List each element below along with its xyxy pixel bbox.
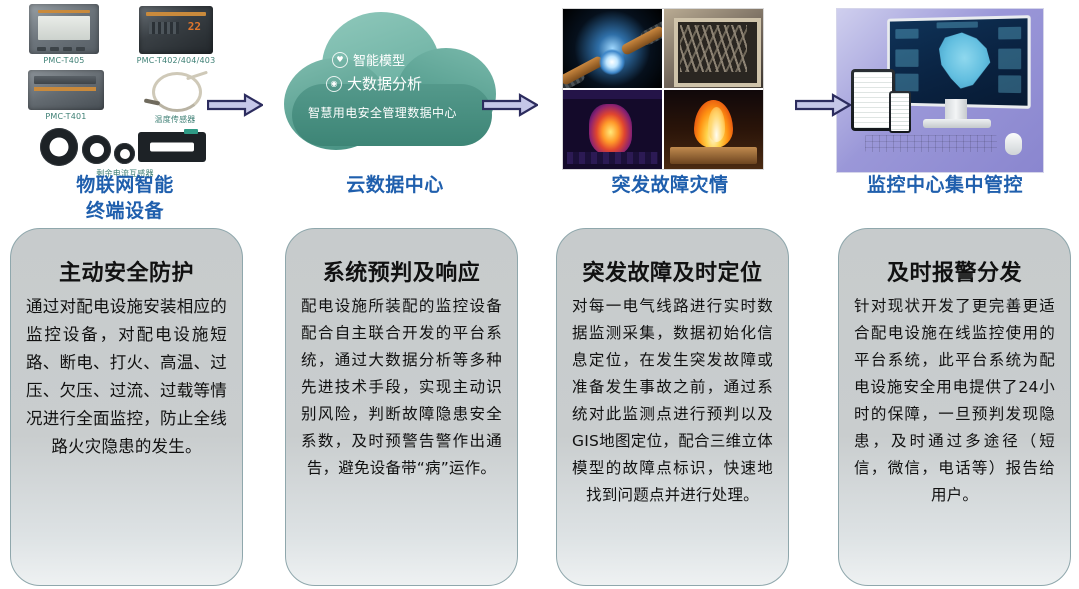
electrical-fire-photo <box>664 90 763 169</box>
description-card-fault-location: 突发故障及时定位 对每一电气线路进行实时数据监测采集，数据初始化信息定位，在发生… <box>556 228 789 586</box>
device-pmc-t401: PMC-T401 <box>22 70 110 121</box>
burnt-distribution-box-photo <box>664 9 763 88</box>
device-label: PMC-T402/404/403 <box>112 56 240 65</box>
card-body: 配电设施所装配的监控设备配合自主联合开发的平台系统，通过大数据分析等多种先进技术… <box>301 293 502 482</box>
cloud-row-label: 大数据分析 <box>347 73 422 94</box>
heart-shield-icon: ♥ <box>332 52 348 68</box>
device-label: PMC-T401 <box>22 112 110 121</box>
section-title-monitoring: 监控中心集中管控 <box>820 172 1070 198</box>
card-body: 通过对配电设施安装相应的监控设备，对配电设施短路、断电、打火、高温、过压、欠压、… <box>26 293 227 461</box>
thermal-imaging-photo <box>563 90 662 169</box>
china-map-icon <box>934 29 995 93</box>
card-heading: 及时报警分发 <box>854 255 1055 287</box>
card-heading: 突发故障及时定位 <box>572 255 773 287</box>
card-body: 针对现状开发了更完善更适合配电设施在线监控使用的平台系统，此平台系统为配电设施安… <box>854 293 1055 509</box>
device-pmc-t402: 22 PMC-T402/404/403 <box>112 6 240 65</box>
section-title-iot: 物联网智能 终端设备 <box>0 172 250 224</box>
flow-arrow-3 <box>795 93 851 117</box>
card-heading: 主动安全防护 <box>26 255 227 287</box>
monitor-stand-foot <box>923 119 991 128</box>
description-card-system-prediction: 系统预判及响应 配电设施所装配的监控设备配合自主联合开发的平台系统，通过大数据分… <box>285 228 518 586</box>
power-meter-icon <box>29 4 99 54</box>
temperature-sensor-icon <box>140 70 210 112</box>
section-title-line: 终端设备 <box>0 198 250 224</box>
analytics-icon: ◉ <box>326 76 342 92</box>
current-transformer-icon <box>40 126 210 166</box>
monitor-stand-neck <box>945 99 967 121</box>
smartphone-icon <box>889 91 911 133</box>
cloud-row-label: 智能模型 <box>353 50 405 69</box>
cloud-caption: 智慧用电安全管理数据中心 <box>308 104 457 121</box>
card-heading: 系统预判及响应 <box>301 255 502 287</box>
flow-arrow-2 <box>482 93 538 117</box>
cloud-graphic: ♥ 智能模型 ◉ 大数据分析 智慧用电安全管理数据中心 <box>270 4 520 176</box>
card-body: 对每一电气线路进行实时数据监测采集，数据初始化信息定位，在发生突发故障或准备发生… <box>572 293 773 509</box>
fault-photo-grid <box>545 4 795 176</box>
arcing-cable-photo <box>563 9 662 88</box>
monitoring-devices-photo <box>820 4 1070 176</box>
cloud-shape-icon: ♥ 智能模型 ◉ 大数据分析 智慧用电安全管理数据中心 <box>284 10 502 156</box>
description-card-alarm-dispatch: 及时报警分发 针对现状开发了更完善更适合配电设施在线监控使用的平台系统，此平台系… <box>838 228 1071 586</box>
mouse-icon <box>1005 133 1022 155</box>
cloud-row-intelligent-model: ♥ 智能模型 <box>332 50 405 69</box>
rail-meter-icon <box>28 70 104 110</box>
infographic-canvas: PMC-T405 22 PMC-T402/404/403 PMC-T401 <box>0 0 1079 589</box>
cloud-row-big-data: ◉ 大数据分析 <box>326 73 422 94</box>
device-pmc-t405: PMC-T405 <box>18 4 110 65</box>
device-label: PMC-T405 <box>18 56 110 65</box>
section-title-line: 物联网智能 <box>0 172 250 198</box>
description-card-active-protection: 主动安全防护 通过对配电设施安装相应的监控设备，对配电设施短路、断电、打火、高温… <box>10 228 243 586</box>
iot-device-photo-group: PMC-T405 22 PMC-T402/404/403 PMC-T401 <box>0 4 250 176</box>
flow-arrow-1 <box>207 93 263 117</box>
section-title-fault: 突发故障灾情 <box>545 172 795 198</box>
keyboard-icon <box>865 135 997 152</box>
section-title-cloud: 云数据中心 <box>270 172 520 198</box>
power-meter-icon: 22 <box>139 6 213 54</box>
